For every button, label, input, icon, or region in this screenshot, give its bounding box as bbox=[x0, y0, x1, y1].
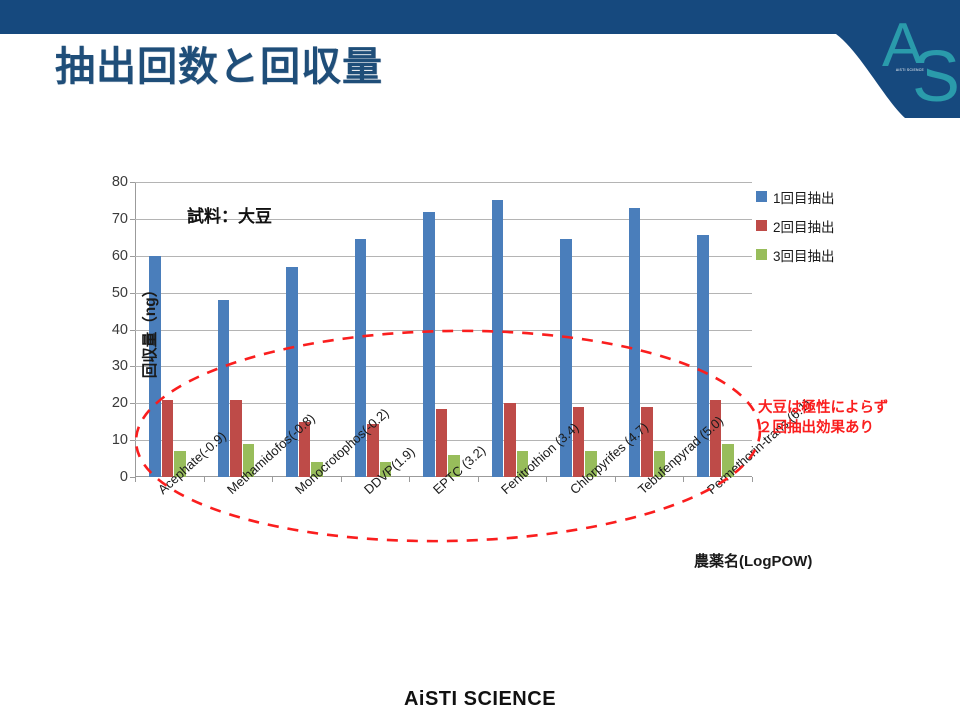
bar-1-6 bbox=[573, 407, 585, 477]
gridline bbox=[135, 182, 752, 183]
highlight-callout: 大豆は極性によらず ２回抽出効果あり bbox=[758, 399, 888, 438]
legend-swatch-icon bbox=[756, 220, 767, 231]
y-axis-tick-mark bbox=[130, 256, 135, 257]
legend-label: 1回目抽出 bbox=[773, 187, 835, 207]
legend-item-0: 1回目抽出 bbox=[756, 182, 906, 211]
callout-line-2: ２回抽出効果あり bbox=[758, 419, 888, 439]
legend-label: 3回目抽出 bbox=[773, 245, 835, 265]
y-axis-tick-mark bbox=[130, 330, 135, 331]
y-axis-tick-label: 20 bbox=[112, 395, 128, 411]
logo-aisti-science: A S bbox=[876, 4, 958, 108]
x-axis-tick-mark bbox=[341, 477, 342, 482]
bar-1-5 bbox=[504, 403, 516, 477]
bar-0-4 bbox=[423, 212, 435, 478]
y-axis-tick-mark bbox=[130, 403, 135, 404]
y-axis-tick-label: 60 bbox=[112, 248, 128, 264]
y-axis-tick-mark bbox=[130, 219, 135, 220]
x-axis-tick-mark bbox=[135, 477, 136, 482]
x-axis-tick-mark bbox=[752, 477, 753, 482]
x-axis-tick-mark bbox=[546, 477, 547, 482]
header-band bbox=[0, 0, 960, 34]
y-axis-tick-mark bbox=[130, 182, 135, 183]
y-axis-tick-mark bbox=[130, 293, 135, 294]
recovery-bar-chart: 01020304050607080 試料：大豆 回収量（ng） Acephate… bbox=[96, 168, 916, 598]
y-axis-tick-label: 30 bbox=[112, 358, 128, 374]
y-axis-tick-mark bbox=[130, 440, 135, 441]
page-title: 抽出回数と回収量 bbox=[55, 34, 383, 92]
x-axis-tick-mark bbox=[615, 477, 616, 482]
y-axis-tick-label: 50 bbox=[112, 285, 128, 301]
chart-plot-area: 01020304050607080 試料：大豆 回収量（ng） bbox=[135, 182, 752, 477]
legend-swatch-icon bbox=[756, 191, 767, 202]
y-axis-tick-mark bbox=[130, 366, 135, 367]
chart-sample-annotation: 試料：大豆 bbox=[187, 202, 272, 227]
chart-legend: 1回目抽出2回目抽出3回目抽出 bbox=[756, 182, 906, 269]
slide-canvas: A S AiSTI SCIENCE 抽出回数と回収量 0102030405060… bbox=[0, 0, 960, 720]
legend-label: 2回目抽出 bbox=[773, 216, 835, 236]
bar-1-1 bbox=[230, 400, 242, 477]
x-axis-tick-mark bbox=[478, 477, 479, 482]
bar-1-7 bbox=[641, 407, 653, 477]
bar-1-0 bbox=[162, 400, 174, 477]
y-axis-tick-label: 80 bbox=[112, 174, 128, 190]
x-axis-tick-mark bbox=[272, 477, 273, 482]
x-axis-tick-mark bbox=[409, 477, 410, 482]
callout-line-1: 大豆は極性によらず bbox=[758, 399, 888, 419]
footer-brand: AiSTI SCIENCE bbox=[0, 688, 960, 711]
y-axis-tick-label: 70 bbox=[112, 211, 128, 227]
legend-swatch-icon bbox=[756, 249, 767, 260]
x-axis-tick-mark bbox=[683, 477, 684, 482]
x-axis-tick-mark bbox=[204, 477, 205, 482]
chart-y-axis-title: 回収量（ng） bbox=[138, 281, 160, 377]
gridline bbox=[135, 293, 752, 294]
legend-item-2: 3回目抽出 bbox=[756, 240, 906, 269]
y-axis-tick-label: 10 bbox=[112, 432, 128, 448]
bar-1-4 bbox=[436, 409, 448, 477]
bar-0-1 bbox=[218, 300, 230, 477]
y-axis-tick-label: 0 bbox=[120, 469, 128, 485]
bar-0-5 bbox=[492, 200, 504, 477]
legend-item-1: 2回目抽出 bbox=[756, 211, 906, 240]
bar-1-8 bbox=[710, 400, 722, 477]
logo-mini-text: AiSTI SCIENCE bbox=[893, 63, 927, 77]
y-axis-tick-label: 40 bbox=[112, 322, 128, 338]
chart-x-axis-title: 農薬名(LogPOW) bbox=[694, 550, 812, 571]
gridline bbox=[135, 256, 752, 257]
